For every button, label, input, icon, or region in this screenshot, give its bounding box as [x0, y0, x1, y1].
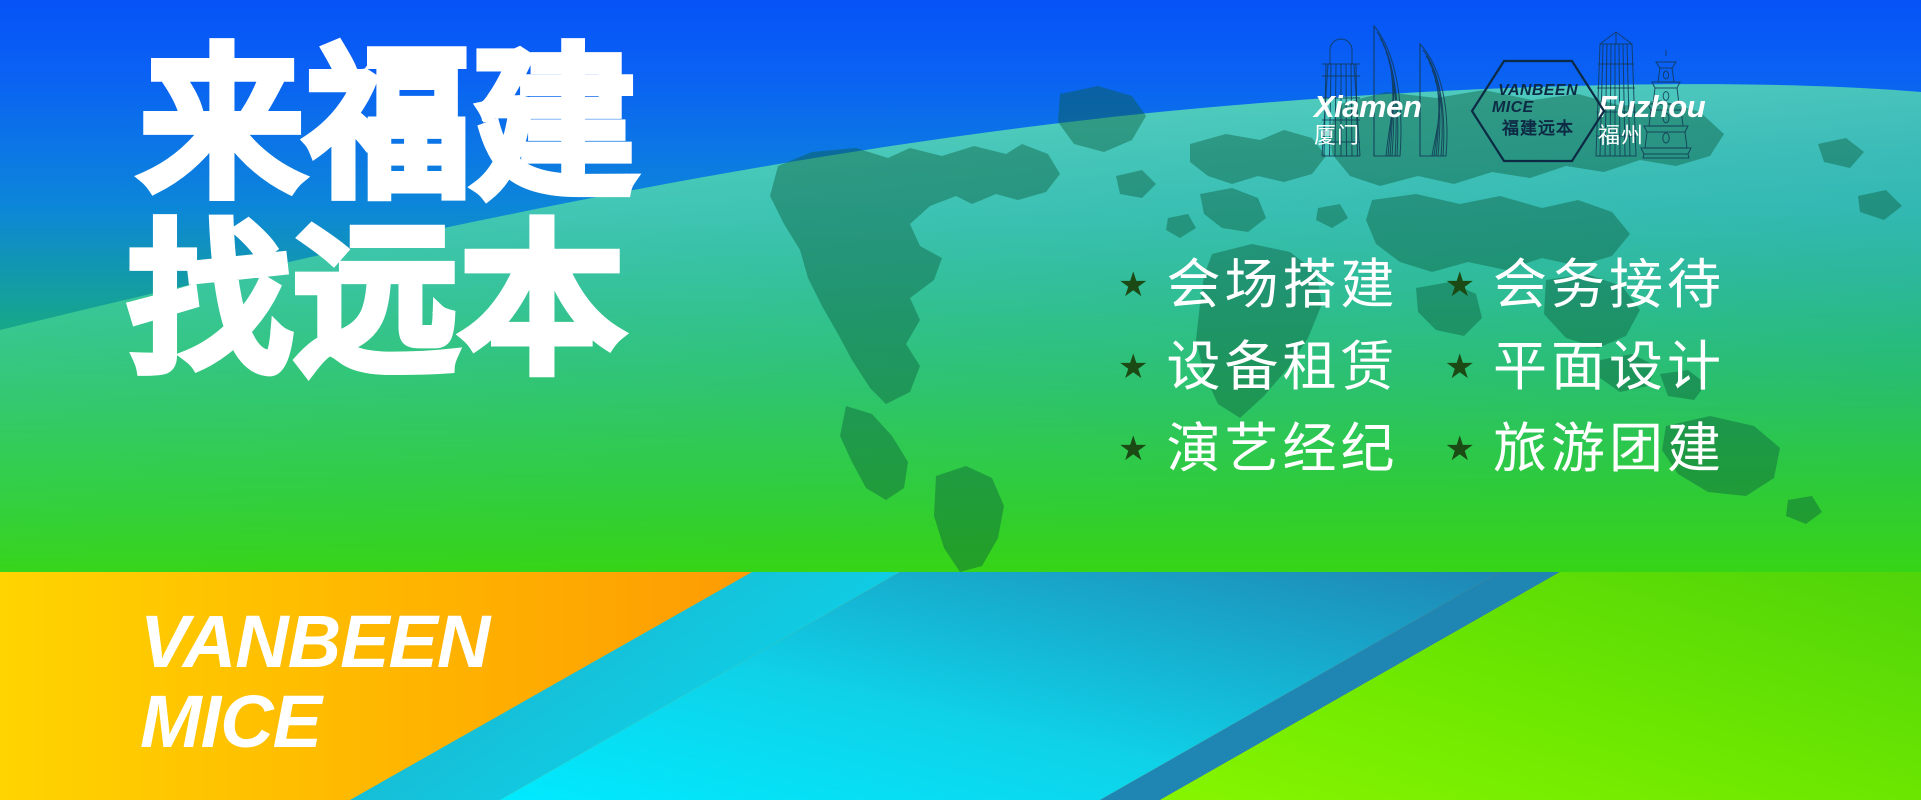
promotional-banner: 来福建 找远本 ★ 会场搭建 ★ 会务接待 ★ 设备租赁 ★ 平面设计 ★	[0, 0, 1921, 800]
star-icon: ★	[1444, 268, 1474, 302]
hex-logo-en-line1: VANBEEN	[1498, 82, 1578, 99]
city-name-cn: 厦门	[1314, 123, 1421, 149]
top-gradient-field: 来福建 找远本 ★ 会场搭建 ★ 会务接待 ★ 设备租赁 ★ 平面设计 ★	[0, 0, 1921, 572]
service-item-4: ★ 演艺经纪	[1118, 419, 1398, 479]
star-icon: ★	[1444, 432, 1474, 466]
city-name-cn: 福州	[1598, 123, 1705, 149]
star-icon: ★	[1444, 350, 1474, 384]
hex-logo-en-line2: MICE	[1492, 99, 1534, 117]
service-label: 演艺经纪	[1166, 419, 1398, 479]
service-item-1: ★ 会务接待	[1444, 255, 1724, 315]
hex-logo-text: VANBEEN MICE 福建远本	[1470, 59, 1606, 163]
brand-wordmark: VANBEEN MICE	[140, 602, 489, 762]
service-item-3: ★ 平面设计	[1444, 337, 1724, 397]
service-label: 平面设计	[1493, 337, 1725, 397]
hex-logo-cn: 福建远本	[1502, 118, 1574, 140]
city-name-en: Xiamen	[1314, 90, 1421, 123]
star-icon: ★	[1118, 350, 1148, 384]
star-icon: ★	[1118, 268, 1148, 302]
headline-line-2: 找远本	[128, 214, 760, 390]
headline-line-1: 来福建	[140, 38, 760, 214]
city-label-fuzhou: Fuzhou 福州	[1598, 90, 1705, 149]
city-name-en: Fuzhou	[1598, 90, 1705, 123]
service-label: 会场搭建	[1166, 255, 1398, 315]
service-label: 设备租赁	[1166, 337, 1398, 397]
bottom-brand-bar: VANBEEN MICE	[0, 572, 1921, 800]
city-logo-cluster: VANBEEN MICE 福建远本 Xiamen 厦门 Fuzhou 福州	[1300, 6, 1720, 178]
service-label: 旅游团建	[1493, 419, 1725, 479]
service-item-5: ★ 旅游团建	[1444, 419, 1724, 479]
vanbeen-hex-logo: VANBEEN MICE 福建远本	[1470, 59, 1606, 163]
service-label: 会务接待	[1493, 255, 1725, 315]
service-item-0: ★ 会场搭建	[1118, 255, 1398, 315]
star-icon: ★	[1118, 432, 1148, 466]
headline: 来福建 找远本	[140, 38, 760, 390]
service-item-2: ★ 设备租赁	[1118, 337, 1398, 397]
brand-line-1: VANBEEN	[140, 602, 489, 682]
brand-line-2: MICE	[140, 682, 489, 762]
city-label-xiamen: Xiamen 厦门	[1314, 90, 1421, 149]
service-list: ★ 会场搭建 ★ 会务接待 ★ 设备租赁 ★ 平面设计 ★ 演艺经纪 ★ 旅游团…	[1118, 255, 1725, 479]
